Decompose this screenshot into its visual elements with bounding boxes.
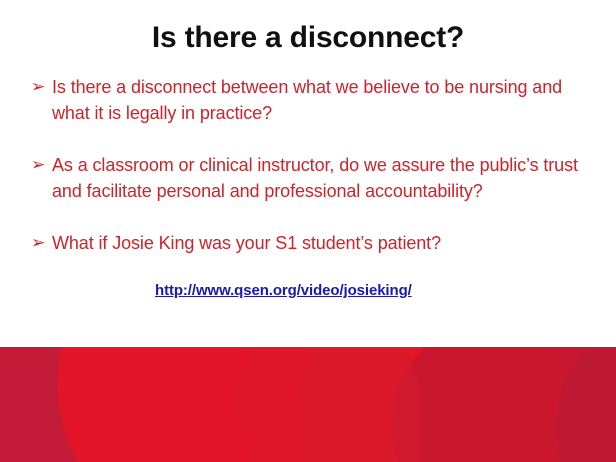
- josie-king-video-link[interactable]: http://www.qsen.org/video/josieking/: [155, 282, 412, 299]
- slide: Is there a disconnect? ➢ Is there a disc…: [0, 0, 616, 462]
- page-title: Is there a disconnect?: [0, 20, 616, 56]
- arrow-bullet-icon: ➢: [31, 152, 45, 178]
- list-item: ➢ As a classroom or clinical instructor,…: [28, 152, 590, 204]
- arrow-bullet-icon: ➢: [31, 74, 45, 100]
- decorative-footer-band: [0, 347, 616, 462]
- arrow-bullet-icon: ➢: [31, 230, 45, 256]
- list-item-text: What if Josie King was your S1 student’s…: [52, 230, 590, 256]
- list-item-text: As a classroom or clinical instructor, d…: [52, 152, 590, 204]
- link-row: http://www.qsen.org/video/josieking/: [28, 282, 590, 300]
- list-item: ➢ What if Josie King was your S1 student…: [28, 230, 590, 256]
- decorative-sheen: [300, 347, 420, 462]
- list-item-text: Is there a disconnect between what we be…: [52, 74, 590, 126]
- bullet-list: ➢ Is there a disconnect between what we …: [28, 74, 590, 300]
- list-item: ➢ Is there a disconnect between what we …: [28, 74, 590, 126]
